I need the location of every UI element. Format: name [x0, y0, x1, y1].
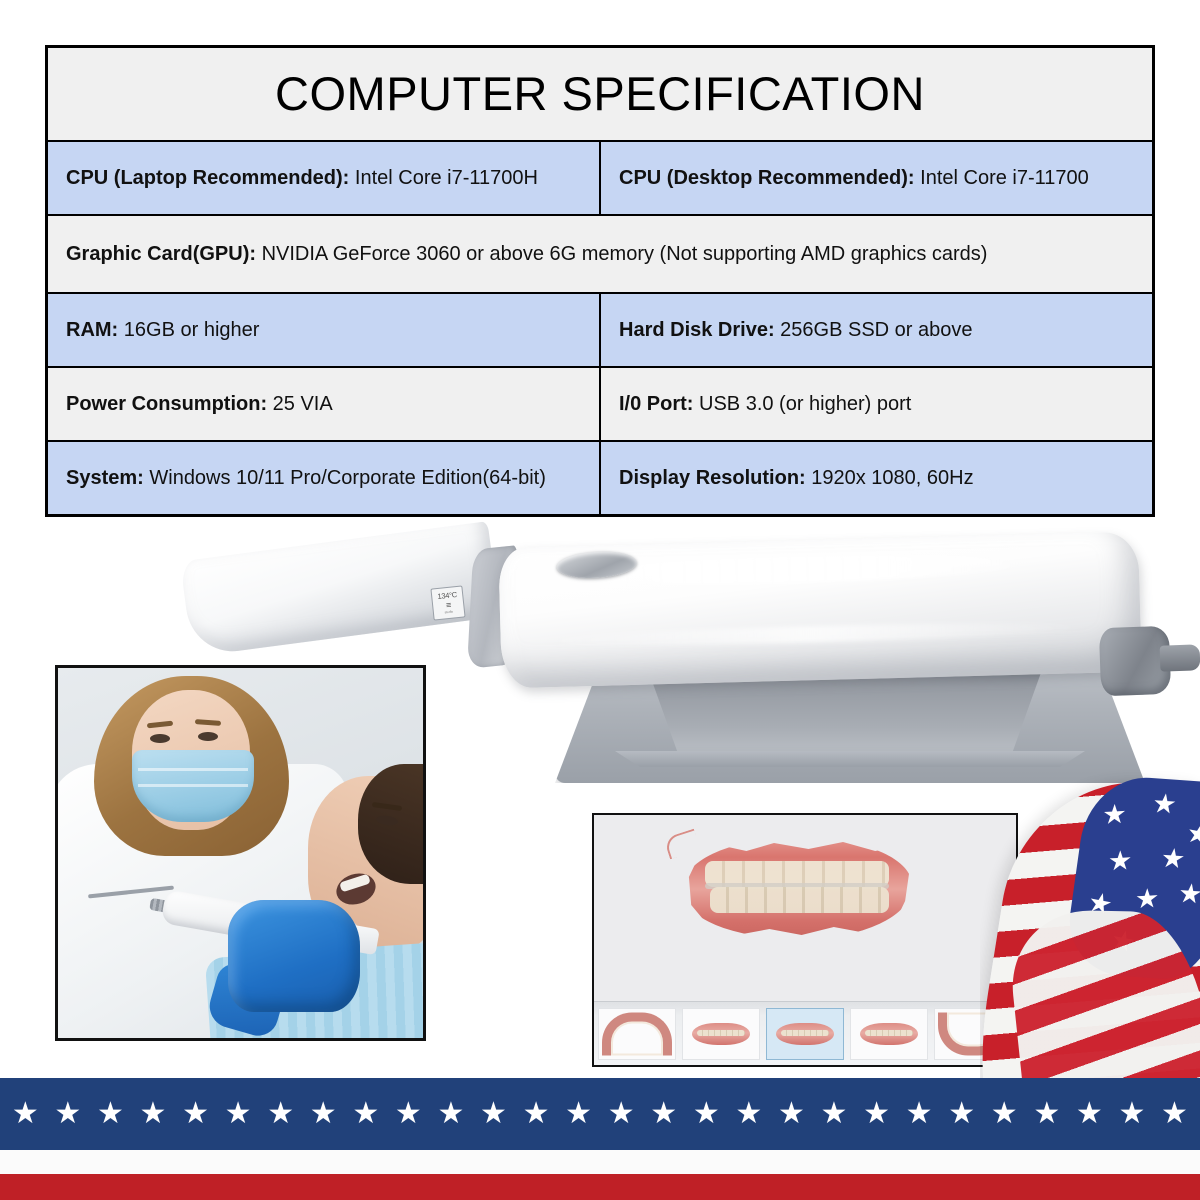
banner-star-icon: ★: [778, 1099, 805, 1129]
computer-specification-table: COMPUTER SPECIFICATION CPU (Laptop Recom…: [45, 45, 1155, 517]
banner-star-icon: ★: [906, 1099, 933, 1129]
cell-label: System:: [66, 467, 144, 489]
thumbnail-bite-front-view[interactable]: [766, 1008, 844, 1060]
thumbnail-bite-right-view[interactable]: [850, 1008, 928, 1060]
banner-star-icon: ★: [821, 1099, 848, 1129]
bite-front-icon: [776, 1023, 834, 1045]
banner-star-icon: ★: [352, 1099, 379, 1129]
table-row-power-io: Power Consumption: 25 VIA I/0 Port: USB …: [47, 367, 1154, 441]
table-row-memory: RAM: 16GB or higher Hard Disk Drive: 256…: [47, 293, 1154, 367]
banner-star-icon: ★: [267, 1099, 294, 1129]
cell-value: USB 3.0 (or higher) port: [693, 393, 911, 415]
patriotic-bottom-banner: ★★★★★★★★★★★★★★★★★★★★★★★★★★★★: [0, 1060, 1200, 1200]
full-bite-scan-model: [682, 839, 912, 939]
banner-star-icon: ★: [991, 1099, 1018, 1129]
cell-value: 256GB SSD or above: [775, 319, 973, 341]
flag-star-icon: ★: [1176, 880, 1200, 908]
banner-star-icon: ★: [225, 1099, 252, 1129]
banner-star-icon: ★: [523, 1099, 550, 1129]
cell-value: Intel Core i7-11700: [915, 167, 1089, 189]
flag-star-icon: ★: [1159, 845, 1187, 873]
banner-star-icon: ★: [182, 1099, 209, 1129]
banner-white-stripe: [0, 1150, 1200, 1174]
blue-nitrile-glove: [228, 900, 360, 1012]
scan-software-panel: [592, 813, 1018, 1067]
banner-red-stripe: [0, 1174, 1200, 1200]
wand-highlight-lower: [541, 619, 1081, 649]
flag-star-icon: ★: [1102, 801, 1127, 829]
flag-star-icon: ★: [1108, 847, 1133, 875]
lower-teeth-row: [710, 887, 889, 913]
banner-star-icon: ★: [1033, 1099, 1060, 1129]
banner-star-icon: ★: [693, 1099, 720, 1129]
banner-star-icon: ★: [650, 1099, 677, 1129]
cell-label: Graphic Card(GPU):: [66, 243, 256, 265]
clinic-usage-photo: [55, 665, 426, 1041]
scan-3d-viewport[interactable]: [594, 815, 1016, 1001]
surgical-mask: [132, 750, 254, 822]
dentist-eye-left: [150, 734, 170, 743]
table-row-gpu: Graphic Card(GPU): NVIDIA GeForce 3060 o…: [47, 215, 1154, 293]
cell-hard-disk: Hard Disk Drive: 256GB SSD or above: [600, 293, 1154, 367]
banner-star-icon: ★: [140, 1099, 167, 1129]
banner-star-icon: ★: [1076, 1099, 1103, 1129]
cell-label: Hard Disk Drive:: [619, 319, 775, 341]
scanner-cable-connector: [1160, 644, 1200, 671]
cell-label: I/0 Port:: [619, 393, 693, 415]
cell-value: Intel Core i7-11700H: [349, 167, 538, 189]
scan-thumbnail-tray: [594, 1001, 1016, 1065]
flag-star-icon: ★: [1150, 790, 1178, 818]
cell-label: CPU (Desktop Recommended):: [619, 167, 915, 189]
cell-display-resolution: Display Resolution: 1920x 1080, 60Hz: [600, 441, 1154, 516]
cell-value: 16GB or higher: [118, 319, 259, 341]
table-title-row: COMPUTER SPECIFICATION: [47, 47, 1154, 142]
table-title-cell: COMPUTER SPECIFICATION: [47, 47, 1154, 142]
cell-value: 1920x 1080, 60Hz: [806, 467, 974, 489]
cell-system: System: Windows 10/11 Pro/Corporate Edit…: [47, 441, 601, 516]
bite-side-icon: [692, 1023, 750, 1045]
cell-label: RAM:: [66, 319, 118, 341]
autoclave-subtext: sterile: [445, 610, 454, 614]
cell-value: NVIDIA GeForce 3060 or above 6G memory (…: [256, 243, 987, 265]
banner-star-icon: ★: [1161, 1099, 1188, 1129]
dentist-eye-right: [198, 732, 218, 741]
thumbnail-upper-arch-occlusal[interactable]: [598, 1008, 676, 1060]
banner-star-strip: ★★★★★★★★★★★★★★★★★★★★★★★★★★★★: [0, 1078, 1200, 1150]
banner-star-icon: ★: [480, 1099, 507, 1129]
bite-side-icon: [860, 1023, 918, 1045]
autoclave-bars: ≡: [446, 600, 451, 609]
page-title: COMPUTER SPECIFICATION: [48, 48, 1152, 140]
banner-star-icon: ★: [565, 1099, 592, 1129]
table-row-system-display: System: Windows 10/11 Pro/Corporate Edit…: [47, 441, 1154, 516]
cell-graphic-card: Graphic Card(GPU): NVIDIA GeForce 3060 o…: [47, 215, 1154, 293]
banner-star-icon: ★: [608, 1099, 635, 1129]
banner-star-icon: ★: [12, 1099, 39, 1129]
scanner-wand-body: [498, 532, 1141, 689]
cell-io-port: I/0 Port: USB 3.0 (or higher) port: [600, 367, 1154, 441]
cell-ram: RAM: 16GB or higher: [47, 293, 601, 367]
banner-star-icon: ★: [863, 1099, 890, 1129]
cell-value: 25 VIA: [267, 393, 333, 415]
banner-star-icon: ★: [1118, 1099, 1145, 1129]
autoclave-134c-icon: 134°C ≡ sterile: [430, 585, 465, 620]
banner-star-icon: ★: [310, 1099, 337, 1129]
flag-star-icon: ★: [1135, 885, 1160, 913]
cell-cpu-desktop: CPU (Desktop Recommended): Intel Core i7…: [600, 141, 1154, 215]
banner-star-icon: ★: [948, 1099, 975, 1129]
banner-star-icon: ★: [97, 1099, 124, 1129]
cell-label: CPU (Laptop Recommended):: [66, 167, 349, 189]
banner-star-icon: ★: [395, 1099, 422, 1129]
table-row-cpu: CPU (Laptop Recommended): Intel Core i7-…: [47, 141, 1154, 215]
banner-star-icon: ★: [54, 1099, 81, 1129]
banner-star-icon: ★: [735, 1099, 762, 1129]
cell-label: Power Consumption:: [66, 393, 267, 415]
cell-power-consumption: Power Consumption: 25 VIA: [47, 367, 601, 441]
cell-label: Display Resolution:: [619, 467, 806, 489]
upper-arch-icon: [602, 1012, 672, 1055]
banner-star-icon: ★: [437, 1099, 464, 1129]
thumbnail-bite-left-view[interactable]: [682, 1008, 760, 1060]
cell-value: Windows 10/11 Pro/Corporate Edition(64-b…: [144, 467, 546, 489]
cell-cpu-laptop: CPU (Laptop Recommended): Intel Core i7-…: [47, 141, 601, 215]
